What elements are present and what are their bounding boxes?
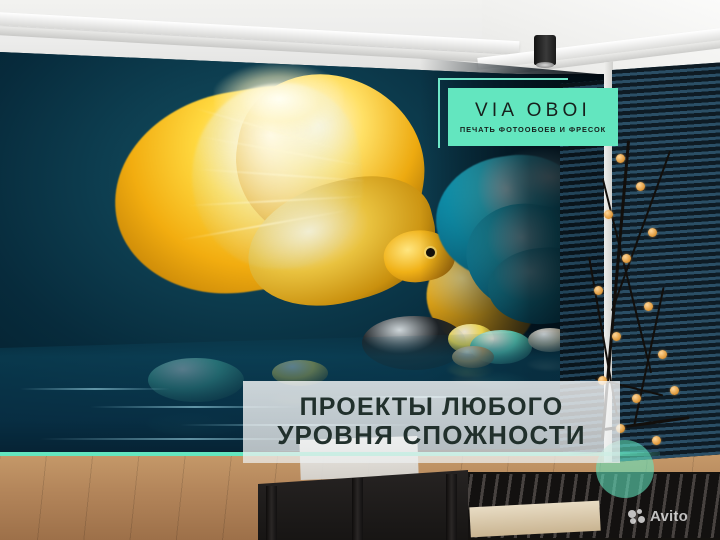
avito-wordmark: Avito: [650, 508, 688, 525]
ceiling-corner: [482, 0, 720, 74]
headline-line-1: ПРОЕКТЫ ЛЮБОГО: [300, 393, 564, 421]
avito-dots-icon: [628, 509, 646, 525]
brand-name: VIA OBOI: [475, 101, 591, 120]
headline-line-2: УРОВНЯ СПОЖНОСТИ: [277, 421, 586, 450]
ceiling-spotlight: [534, 35, 556, 65]
brand-tagline: ПЕЧАТЬ ФОТООБОЕВ И ФРЕСОК: [460, 126, 606, 133]
table-leg: [266, 486, 277, 540]
avito-watermark: Avito: [628, 508, 688, 525]
table-leg: [352, 478, 363, 540]
brand-logo: VIA OBOI ПЕЧАТЬ ФОТООБОЕВ И ФРЕСОК: [448, 88, 618, 146]
yellow-betta-fish: [96, 62, 426, 312]
advertisement-image: VIA OBOI ПЕЧАТЬ ФОТООБОЕВ И ФРЕСОК ПРОЕК…: [0, 0, 720, 540]
table-leg: [446, 474, 457, 540]
headline-banner: ПРОЕКТЫ ЛЮБОГО УРОВНЯ СПОЖНОСТИ: [243, 381, 620, 463]
